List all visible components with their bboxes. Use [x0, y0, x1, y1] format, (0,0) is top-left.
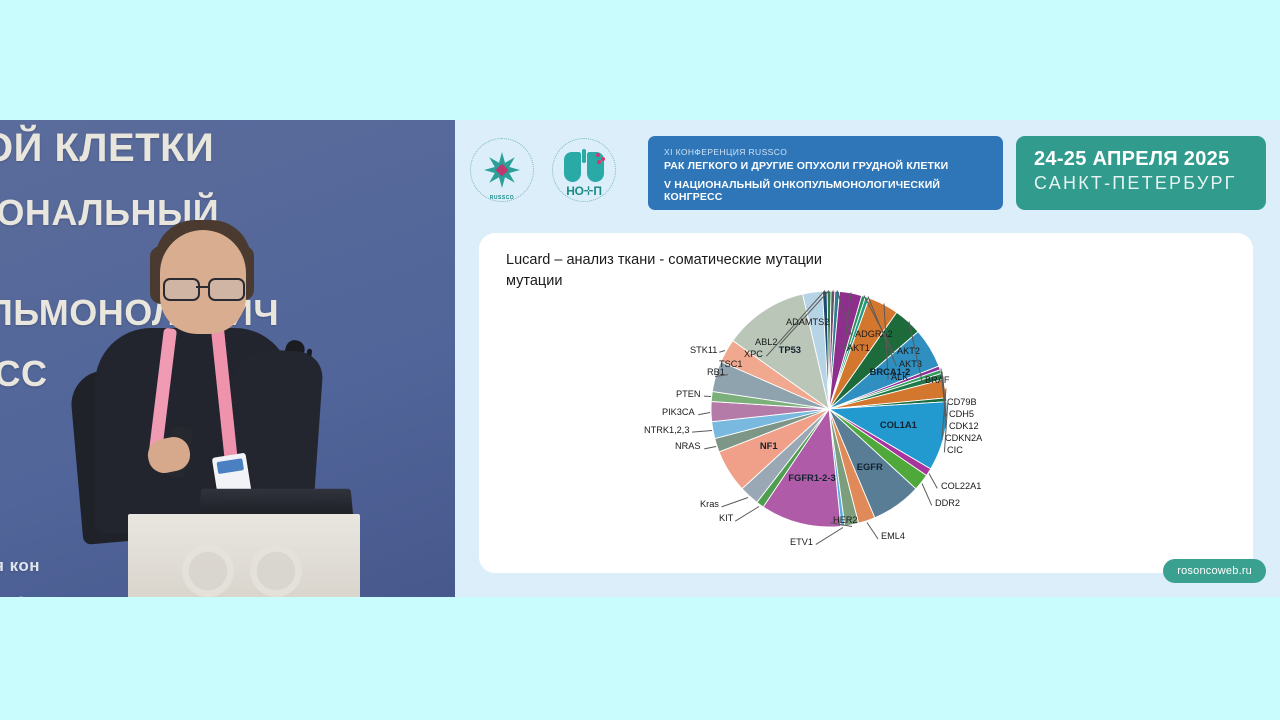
slide-header: RUSSCO НО✛П XI КОНФЕРЕНЦИЯ RUSSCO — [455, 120, 1280, 232]
pie-label: FGFR1-2-3 — [788, 472, 835, 483]
star-icon — [480, 148, 524, 192]
letterbox-bottom — [0, 597, 1280, 720]
pie-label: NF1 — [760, 440, 778, 451]
pie-label: CDKN2A — [945, 433, 982, 443]
pie-label: DDR2 — [935, 498, 960, 508]
pie-label: TP53 — [779, 344, 801, 355]
pie-label: CDH5 — [949, 409, 974, 419]
pie-label: BRAF — [925, 375, 950, 385]
podium-logos — [152, 540, 332, 597]
pie-chart: TSC1XPCABL2ADAMTS2ADGRA2AKT1AKT2AKT3ALKB… — [679, 259, 979, 559]
date-badge: 24-25 АПРЕЛЯ 2025 САНКТ-ПЕТЕРБУРГ — [1016, 136, 1266, 210]
presentation-slide: RUSSCO НО✛П XI КОНФЕРЕНЦИЯ RUSSCO — [455, 120, 1280, 597]
banner-eyebrow: XI КОНФЕРЕНЦИЯ RUSSCO — [664, 147, 987, 157]
lungs-icon — [564, 152, 604, 182]
header-logos: RUSSCO НО✛П — [468, 136, 618, 204]
pie-label: EML4 — [881, 531, 905, 541]
pie-label: KIT — [719, 513, 733, 523]
backdrop-line-1: ОЙ КЛЕТКИ — [0, 126, 214, 171]
pie-label: COL1A1 — [880, 419, 917, 430]
pie-label: BRCA1-2 — [870, 366, 911, 377]
slide-content-card: Lucard – анализ ткани - соматические мут… — [479, 233, 1253, 573]
pie-label: XPC — [744, 349, 763, 359]
pie-label: CDK12 — [949, 421, 979, 431]
event-city: САНКТ-ПЕТЕРБУРГ — [1034, 173, 1248, 194]
pie-label: AKT1 — [847, 343, 870, 353]
pie-label: NRAS — [675, 441, 701, 451]
pie-label: Kras — [700, 499, 719, 509]
pie-label: STK11 — [690, 345, 717, 355]
pie-label: ADAMTS2 — [786, 317, 829, 327]
pie-label: COL22A1 — [941, 481, 981, 491]
pie-label: ABL2 — [755, 337, 777, 347]
pie-label: ADGRA2 — [855, 329, 893, 339]
event-dates: 24-25 АПРЕЛЯ 2025 — [1034, 148, 1248, 171]
pie-label: ETV1 — [790, 537, 813, 547]
pie-label: CD79B — [947, 397, 977, 407]
conference-banner: XI КОНФЕРЕНЦИЯ RUSSCO РАК ЛЕГКОГО И ДРУГ… — [648, 136, 1003, 210]
pie-label: PTEN — [676, 389, 701, 399]
pie-label: NTRK1,2,3 — [644, 425, 689, 435]
noip-caption: НО✛П — [566, 184, 601, 198]
russco-caption: RUSSCO — [490, 195, 514, 201]
backdrop-small-1: я кон — [0, 556, 40, 576]
backdrop-line-4: ЕСС — [0, 353, 48, 395]
pie-label: EGFR — [857, 461, 883, 472]
speaker-video[interactable]: ОЙ КЛЕТКИ ИОНАЛЬНЫЙ УЛЬМОНОЛОГИЧ ЕСС я к… — [0, 120, 455, 597]
site-watermark: rosoncoweb.ru — [1163, 559, 1266, 583]
pie-label: PIK3CA — [662, 407, 695, 417]
banner-line-1: РАК ЛЕГКОГО И ДРУГИЕ ОПУХОЛИ ГРУДНОЙ КЛЕ… — [664, 160, 987, 172]
stream-frame: ОЙ КЛЕТКИ ИОНАЛЬНЫЙ УЛЬМОНОЛОГИЧ ЕСС я к… — [0, 0, 1280, 720]
banner-line-2: V НАЦИОНАЛЬНЫЙ ОНКОПУЛЬМОНОЛОГИЧЕСКИЙ КО… — [664, 179, 987, 203]
red-marker-icon — [596, 153, 605, 164]
pie-label: CIC — [947, 445, 963, 455]
noip-logo-icon: НО✛П — [550, 136, 618, 204]
eyeglasses-icon — [163, 278, 243, 297]
letterbox-top — [0, 0, 1280, 120]
russco-logo-icon: RUSSCO — [468, 136, 536, 204]
